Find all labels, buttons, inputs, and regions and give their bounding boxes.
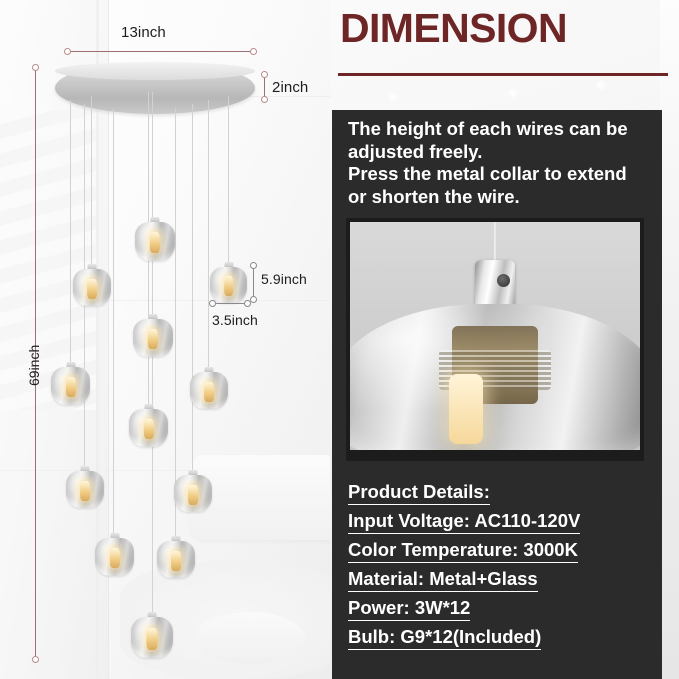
lamp-glass (95, 538, 134, 576)
bulb-glow (449, 374, 483, 444)
pendant-lamp (95, 533, 134, 576)
pendant-wire (113, 108, 114, 533)
lamp-glass (210, 267, 247, 303)
title-divider (338, 73, 668, 76)
lamp-bulb (150, 232, 160, 253)
ceiling-light-dot (508, 88, 518, 98)
product-details: Product Details: Input Voltage: AC110-12… (348, 482, 648, 656)
canopy-height-endpoint (261, 71, 268, 78)
instruction-line: The height of each wires can be (348, 118, 648, 141)
canopy-height-endpoint (261, 96, 268, 103)
pendant-lamp (174, 470, 212, 512)
shade-height-endpoint (250, 262, 257, 269)
pendant-wire (192, 104, 193, 470)
canopy-height-label: 2inch (272, 79, 308, 96)
total-drop-label: 69inch (26, 345, 42, 386)
lamp-bulb (147, 628, 158, 650)
canopy-width-endpoint (250, 48, 257, 55)
lamp-bulb (188, 485, 198, 505)
shade-height-endpoint (250, 296, 257, 303)
shade-width-endpoint (209, 300, 216, 307)
lamp-bulb (171, 551, 181, 571)
lamp-bulb (109, 548, 119, 569)
page-title: DIMENSION (340, 8, 670, 49)
shade-height-line (253, 266, 254, 299)
shade-width-label: 3.5inch (212, 312, 258, 328)
detail-bulb: Bulb: G9*12(Included) (348, 627, 541, 650)
lamp-glass (51, 367, 90, 405)
pendant-lamp (157, 536, 195, 578)
infographic-page: 13inch 2inch 69inch 5.9inch 3.5inch DIME… (0, 0, 679, 679)
canopy-width-line (68, 51, 254, 52)
shade-width-line (213, 303, 247, 304)
lamp-glass (157, 541, 195, 578)
lamp-glass (129, 409, 168, 447)
lamp-bulb (224, 276, 234, 295)
collar-closeup-photo (346, 218, 644, 461)
lamp-glass (133, 319, 173, 357)
canopy-width-label: 13inch (121, 24, 166, 41)
lamp-glass (131, 617, 173, 658)
canopy-width-endpoint (64, 48, 71, 55)
total-drop-endpoint (32, 656, 39, 663)
info-column: DIMENSION The height of each wires can b… (330, 0, 679, 679)
lamp-glass (174, 475, 212, 512)
pendant-lamp (66, 466, 104, 508)
collar-photo-scene (350, 222, 640, 450)
shade-height-label: 5.9inch (261, 271, 307, 287)
instruction-text: The height of each wires can be adjusted… (348, 118, 648, 208)
pendant-wire (208, 100, 209, 367)
collar-screw (497, 274, 510, 287)
pendant-wire (228, 96, 229, 262)
lamp-glass (73, 269, 111, 306)
instruction-line: adjusted freely. (348, 141, 648, 164)
pendant-lamp (131, 612, 173, 658)
detail-material: Material: Metal+Glass (348, 569, 538, 592)
pendant-lamp (190, 367, 228, 409)
pendant-lamp (73, 264, 111, 306)
lamp-bulb (80, 481, 90, 501)
total-drop-endpoint (32, 64, 39, 71)
lamp-glass (190, 372, 228, 409)
lamp-bulb (143, 419, 153, 440)
dimension-diagram: 13inch 2inch 69inch 5.9inch 3.5inch (0, 0, 330, 679)
shade-width-endpoint (244, 300, 251, 307)
detail-input-voltage: Input Voltage: AC110-120V (348, 511, 580, 534)
lamp-glass (66, 471, 104, 508)
detail-color-temperature: Color Temperature: 3000K (348, 540, 578, 563)
instruction-line: Press the metal collar to extend (348, 163, 648, 186)
suspension-wire (494, 222, 497, 264)
pendant-wire (91, 96, 92, 264)
lamp-bulb (148, 329, 158, 350)
pendant-wire (70, 100, 71, 362)
pendant-lamp (135, 217, 175, 261)
lamp-bulb (87, 279, 97, 299)
ceiling-light-dot (388, 92, 398, 102)
pendant-lamp (129, 404, 168, 447)
lamp-bulb (204, 382, 214, 402)
canopy-top-rim (55, 62, 255, 80)
detail-power: Power: 3W*12 (348, 598, 470, 621)
details-heading: Product Details: (348, 482, 490, 505)
lamp-glass (135, 222, 175, 261)
instruction-line: or shorten the wire. (348, 186, 648, 209)
pendant-lamp (51, 362, 90, 405)
lamp-bulb (65, 377, 75, 398)
pendant-lamp (133, 314, 173, 357)
coffee-table (195, 612, 305, 664)
wall-edge-strip (660, 0, 679, 679)
ceiling-light-dot (596, 80, 606, 90)
info-panel: The height of each wires can be adjusted… (332, 110, 662, 679)
pendant-lamp (210, 262, 247, 303)
